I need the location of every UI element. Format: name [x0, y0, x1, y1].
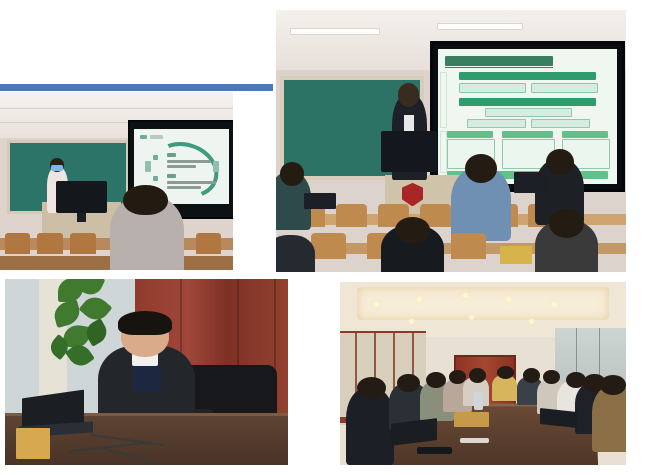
desk-organizer — [16, 428, 50, 460]
face-mask — [51, 165, 63, 171]
audience-member — [276, 235, 315, 272]
person-hair — [118, 311, 172, 335]
photo-meeting-room-group — [340, 282, 626, 465]
cove-lighting — [357, 287, 609, 320]
collage-canvas — [0, 0, 649, 475]
person-sweater — [132, 363, 160, 393]
student-head — [123, 185, 167, 215]
photo-office-interview — [5, 279, 288, 465]
mobile-phone — [417, 447, 451, 454]
blue-divider-bar — [0, 84, 273, 91]
classroom-scene — [0, 92, 233, 270]
podium-monitor — [381, 131, 437, 173]
lecture-hall-scene — [276, 10, 626, 272]
desk-items — [454, 412, 488, 427]
mobile-phone — [460, 438, 489, 443]
podium-monitor — [56, 181, 107, 213]
attendee — [346, 388, 395, 465]
slide-title-bar — [445, 56, 552, 65]
attendee — [492, 375, 518, 401]
attendee — [592, 386, 626, 452]
office-scene — [5, 279, 288, 465]
photo-classroom-female-presenter — [0, 92, 233, 270]
meeting-room-scene — [340, 282, 626, 465]
water-bottle — [474, 392, 483, 410]
presentation-screen — [430, 41, 625, 191]
photo-lecture-hall-male-speaker — [276, 10, 626, 272]
monitor-stand — [77, 213, 86, 222]
